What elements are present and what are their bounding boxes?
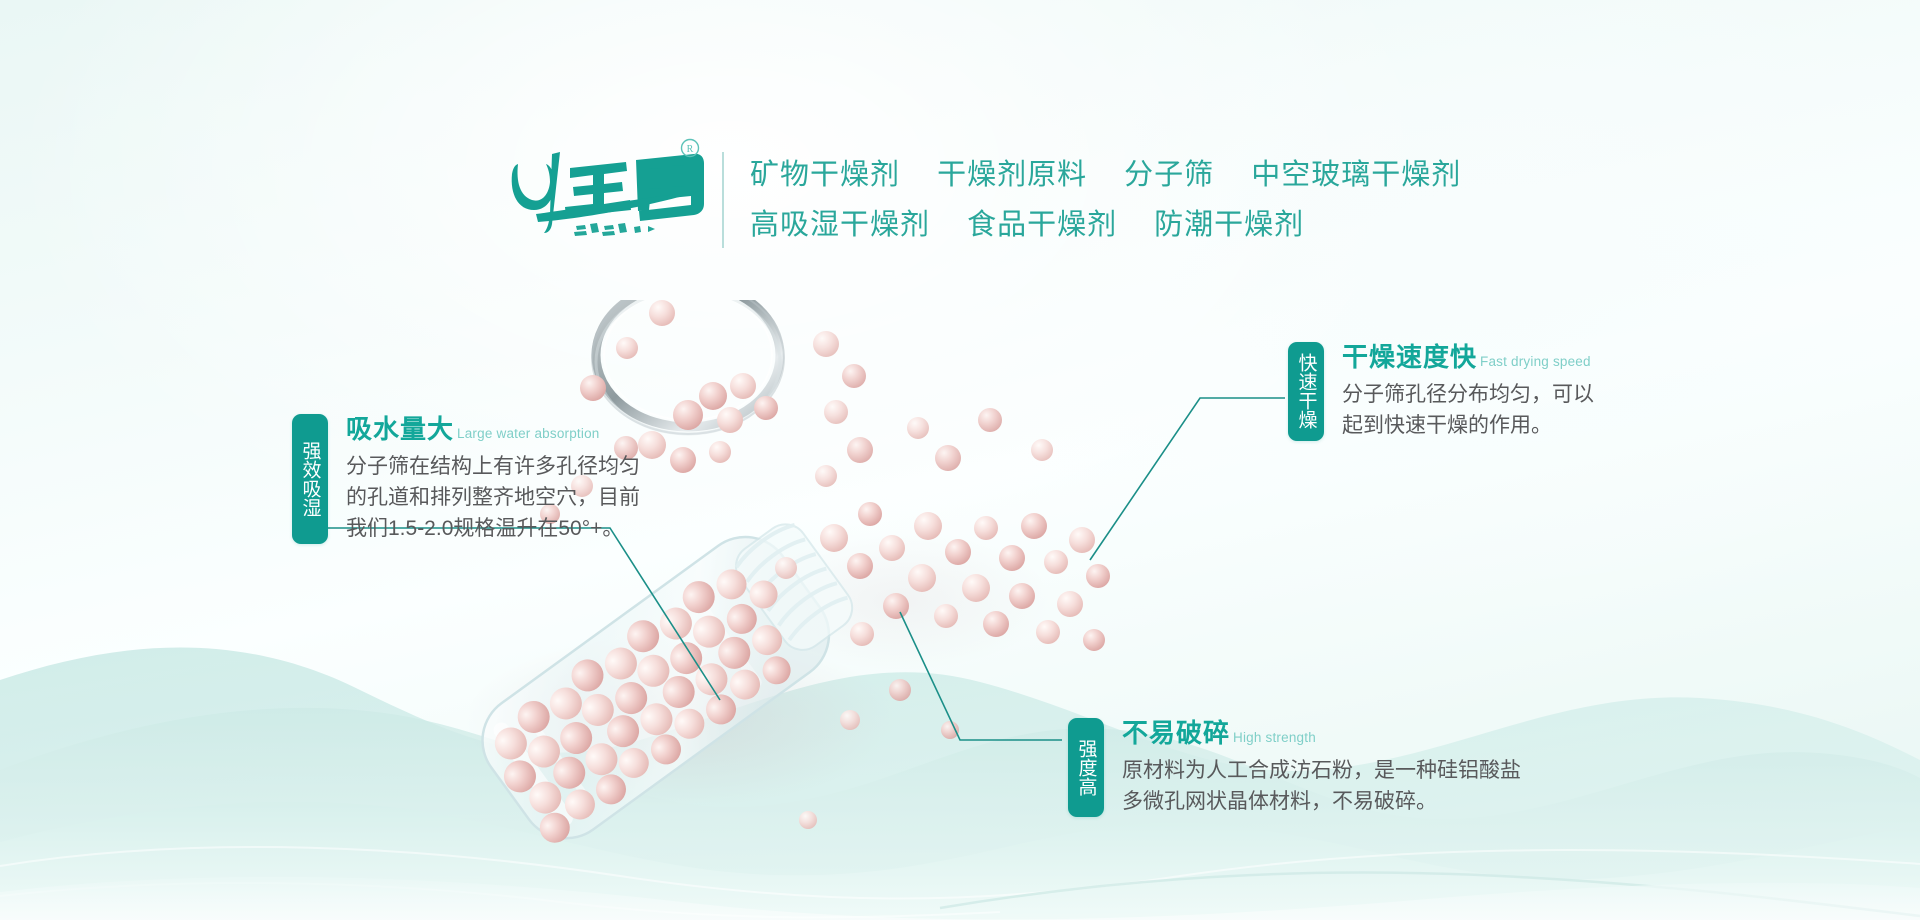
callout-body-line: 原材料为人工合成汸石粉，是一种硅铝酸盐 <box>1122 755 1521 786</box>
banner-stage: R 矿物干燥剂 干燥剂原料 分子筛 <box>0 0 1920 920</box>
nav-item[interactable]: 食品干燥剂 <box>967 209 1117 241</box>
callout-title: 吸水量大 <box>346 414 454 444</box>
callout-body-line: 我们1.5-2.0规格温升在50°+。 <box>346 513 640 544</box>
callout-body-line: 的孔道和排列整齐地空穴，目前 <box>346 482 640 513</box>
callout-title: 不易破碎 <box>1122 718 1230 748</box>
callout-tag: 强效吸湿 <box>292 414 328 544</box>
nav-item[interactable]: 干燥剂原料 <box>937 159 1087 191</box>
nav-keywords: 矿物干燥剂 干燥剂原料 分子筛 中空玻璃干燥剂 高吸湿干燥剂 食品干燥剂 防潮干… <box>722 150 1461 250</box>
callout-body-line: 多微孔网状晶体材料，不易破碎。 <box>1122 786 1521 817</box>
banner-header: R 矿物干燥剂 干燥剂原料 分子筛 <box>0 0 1920 270</box>
svg-text:R: R <box>687 144 694 155</box>
nav-line-2: 高吸湿干燥剂 食品干燥剂 防潮干燥剂 <box>750 200 1461 250</box>
yaao-logo[interactable]: R <box>508 138 708 236</box>
nav-line-1: 矿物干燥剂 干燥剂原料 分子筛 中空玻璃干燥剂 <box>750 150 1461 200</box>
callout-body-line: 起到快速干燥的作用。 <box>1342 410 1594 441</box>
nav-item[interactable]: 中空玻璃干燥剂 <box>1251 159 1461 191</box>
nav-item[interactable]: 防潮干燥剂 <box>1154 209 1304 241</box>
nav-divider <box>722 152 724 248</box>
registered-mark-icon: R <box>682 140 699 157</box>
callout-body-line: 分子筛在结构上有许多孔径均匀 <box>346 451 640 482</box>
nav-item[interactable]: 分子筛 <box>1124 159 1214 191</box>
callout-subtitle: Fast drying speed <box>1480 354 1591 372</box>
callout-title: 干燥速度快 <box>1342 342 1477 372</box>
callout-subtitle: Large water absorption <box>457 426 600 444</box>
nav-item[interactable]: 矿物干燥剂 <box>750 159 900 191</box>
callout-tag: 强度高 <box>1068 718 1104 817</box>
callout-subtitle: High strength <box>1233 730 1316 748</box>
callout-fast-drying-speed: 快速干燥 干燥速度快 Fast drying speed 分子筛孔径分布均匀，可… <box>1288 342 1594 441</box>
callout-tag: 快速干燥 <box>1288 342 1324 441</box>
nav-item[interactable]: 高吸湿干燥剂 <box>750 209 930 241</box>
callout-body-line: 分子筛孔径分布均匀，可以 <box>1342 379 1594 410</box>
callout-high-strength: 强度高 不易破碎 High strength 原材料为人工合成汸石粉，是一种硅铝… <box>1068 718 1521 817</box>
callout-large-water-absorption: 强效吸湿 吸水量大 Large water absorption 分子筛在结构上… <box>292 414 640 544</box>
